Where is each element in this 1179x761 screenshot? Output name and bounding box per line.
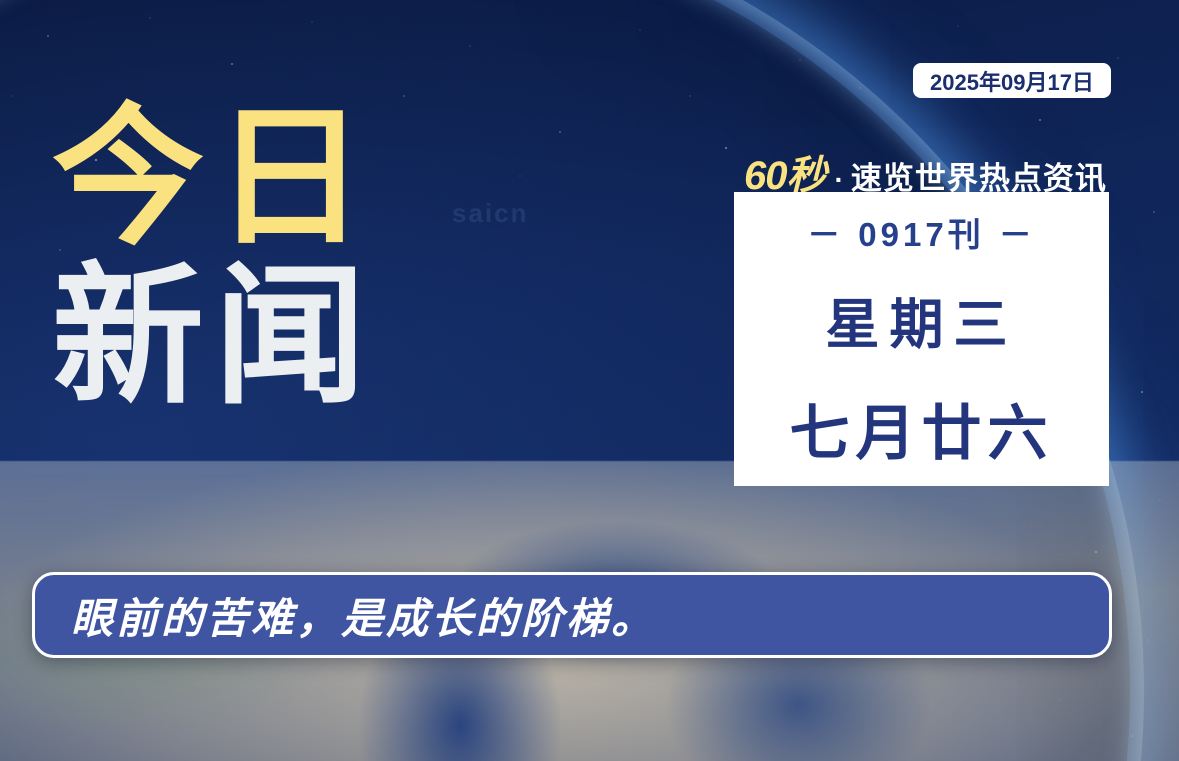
lunar-date-label: 七月廿六 xyxy=(790,385,1054,472)
issue-dash-right-icon: － xyxy=(999,208,1036,256)
page-title: 今日 新闻 xyxy=(52,104,376,412)
issue-info-card: － 0917刊 － 星期三 七月廿六 xyxy=(734,192,1109,486)
date-badge: 2025年09月17日 xyxy=(913,63,1111,98)
weekday-label: 星期三 xyxy=(826,280,1018,359)
daily-quote-text: 眼前的苦难，是成长的阶梯。 xyxy=(71,585,656,646)
watermark-text: saicn xyxy=(452,198,529,229)
daily-quote-bar: 眼前的苦难，是成长的阶梯。 xyxy=(32,572,1112,658)
issue-dash-left-icon: － xyxy=(807,208,844,256)
headline-line-jinri: 今日 xyxy=(52,104,376,253)
news-poster: saicn 今日 新闻 2025年09月17日 60秒 · 速览世界热点资讯 －… xyxy=(0,0,1179,761)
headline-line-xinwen: 新闻 xyxy=(52,263,376,412)
issue-row: － 0917刊 － xyxy=(807,208,1035,256)
issue-number: 0917刊 xyxy=(858,208,984,256)
date-badge-label: 2025年09月17日 xyxy=(930,65,1094,97)
